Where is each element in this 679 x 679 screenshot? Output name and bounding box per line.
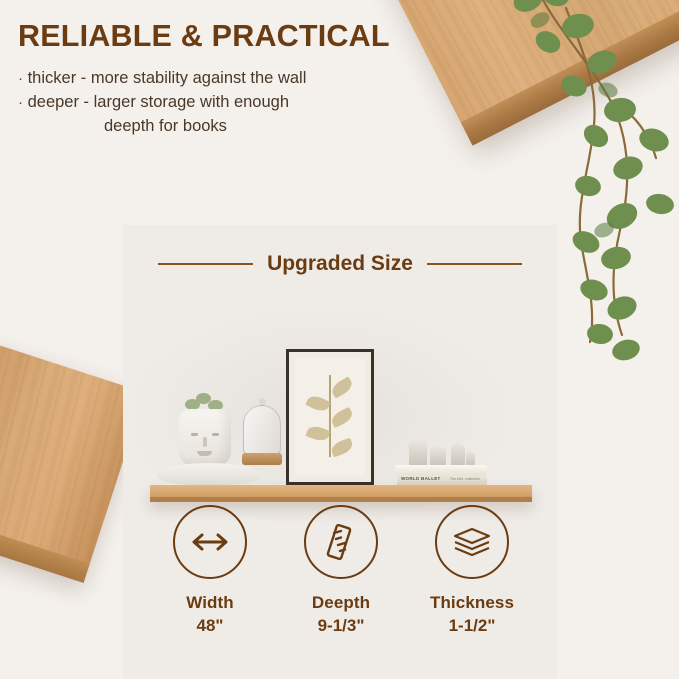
planter-eye	[212, 433, 219, 436]
layers-svg	[451, 525, 493, 559]
wood-plank-edge	[461, 0, 679, 146]
floating-shelf	[150, 485, 532, 502]
divider-right	[427, 263, 522, 265]
spec-label: Width	[151, 593, 269, 613]
face-planter-pot	[179, 409, 231, 467]
spec-value: 1-1/2"	[413, 616, 531, 636]
upgraded-size-card: Upgraded Size	[123, 225, 557, 679]
width-arrow-svg	[188, 529, 232, 555]
spec-value: 9-1/3"	[282, 616, 400, 636]
ruler-svg	[321, 522, 361, 562]
bullet-marker: ·	[18, 70, 23, 87]
frame-artwork	[295, 358, 365, 476]
book-title-back: The Met. collection	[450, 477, 480, 481]
spec-thickness: Thickness 1-1/2"	[413, 505, 531, 636]
decor-objects	[409, 437, 475, 467]
spec-depth: Deepth 9-1/3"	[282, 505, 400, 636]
divider-left	[158, 263, 253, 265]
wood-plank-edge	[0, 471, 90, 583]
planter-eye	[191, 433, 198, 436]
feature-bullet-list: · thicker - more stability against the w…	[18, 67, 448, 139]
book-top	[395, 465, 487, 475]
spec-value: 48"	[151, 616, 269, 636]
layers-icon	[435, 505, 509, 579]
list-item-continuation: deepth for books	[18, 115, 448, 139]
bullet-marker: ·	[18, 94, 23, 111]
book-title-front: WORLD BALLET	[401, 476, 441, 481]
planter-mouth	[197, 451, 212, 456]
decor-object	[430, 447, 446, 467]
picture-frame	[286, 349, 374, 485]
card-title-row: Upgraded Size	[158, 252, 522, 276]
list-item-text: thicker - more stability against the wal…	[28, 69, 307, 87]
glass-cloche	[243, 405, 281, 467]
planter-nose	[203, 437, 207, 447]
spec-row: Width 48" Deepth 9-1	[151, 505, 531, 636]
decor-object	[451, 443, 465, 467]
spec-width: Width 48"	[151, 505, 269, 636]
product-infographic: RELIABLE & PRACTICAL · thicker - more st…	[0, 0, 679, 679]
cloche-dome	[243, 405, 281, 455]
page-title: RELIABLE & PRACTICAL	[18, 20, 448, 52]
ruler-icon	[304, 505, 378, 579]
list-item-text: deeper - larger storage with enough	[28, 93, 289, 111]
cloche-base	[242, 453, 282, 465]
decor-object	[409, 441, 427, 467]
list-item: · deeper - larger storage with enough	[18, 91, 448, 115]
list-item-text: deepth for books	[104, 117, 227, 135]
spec-label: Deepth	[282, 593, 400, 613]
book-stack: WORLD BALLET The Met. collection	[395, 465, 487, 486]
card-title: Upgraded Size	[267, 252, 413, 276]
spec-label: Thickness	[413, 593, 531, 613]
leaf-artwork-icon	[329, 375, 331, 458]
headline-block: RELIABLE & PRACTICAL · thicker - more st…	[18, 20, 448, 139]
list-item: · thicker - more stability against the w…	[18, 67, 448, 91]
shelf-scene: WORLD BALLET The Met. collection	[123, 287, 557, 522]
width-arrow-icon	[173, 505, 247, 579]
